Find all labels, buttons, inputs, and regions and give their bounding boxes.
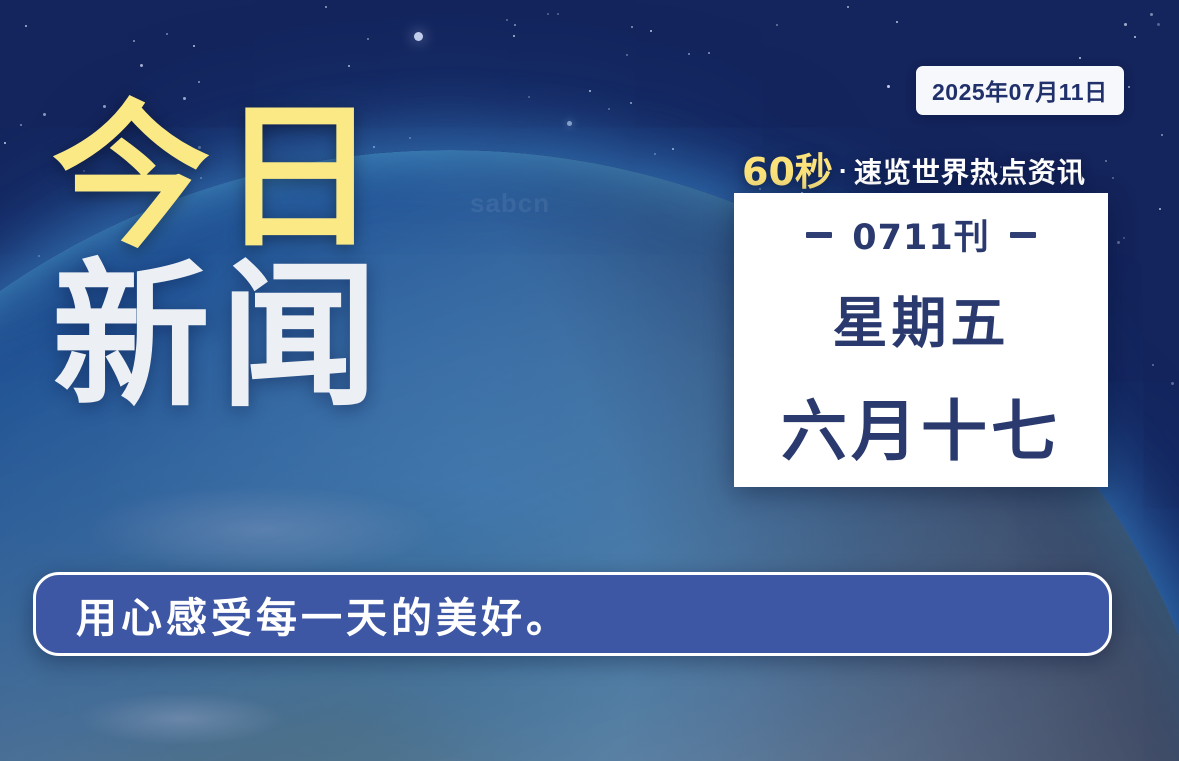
date-badge: 2025年07月11日 — [916, 66, 1124, 115]
watermark-text: sabcn — [470, 188, 550, 219]
weekday-label: 星期五 — [832, 278, 1009, 358]
tagline-seconds: 60秒 — [742, 150, 833, 194]
tagline: 60秒·速览世界热点资讯 — [742, 141, 1086, 196]
issue-row: 0711刊 — [806, 209, 1035, 260]
page-title: 今日 新闻 — [52, 104, 388, 411]
lunar-date-label: 六月十七 — [781, 378, 1061, 474]
tagline-description: 速览世界热点资讯 — [854, 157, 1086, 188]
page-title-line-2: 新闻 — [52, 263, 388, 412]
dash-right-icon — [1010, 232, 1036, 238]
dash-left-icon — [806, 232, 832, 238]
news-poster: sabcn 今日 新闻 2025年07月11日 60秒·速览世界热点资讯 071… — [0, 0, 1179, 761]
quote-banner: 用心感受每一天的美好。 — [33, 572, 1112, 656]
issue-card: 0711刊 星期五 六月十七 — [734, 193, 1108, 487]
quote-banner-text: 用心感受每一天的美好。 — [76, 584, 571, 644]
tagline-separator: · — [833, 156, 854, 186]
page-title-line-1: 今日 — [52, 104, 388, 253]
issue-number: 0711刊 — [852, 209, 989, 260]
